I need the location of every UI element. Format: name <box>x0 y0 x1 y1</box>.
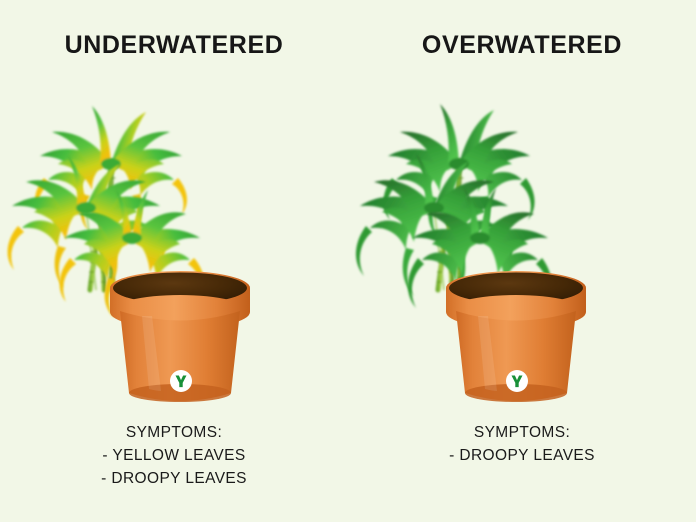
watering-comparison-infographic: UNDERWATERED <box>0 0 696 522</box>
pots-layer <box>0 0 696 522</box>
pot-badge-overwatered <box>506 370 528 392</box>
pot-underwatered <box>110 271 250 402</box>
pot-overwatered <box>446 271 586 402</box>
pot-badge-underwatered <box>170 370 192 392</box>
